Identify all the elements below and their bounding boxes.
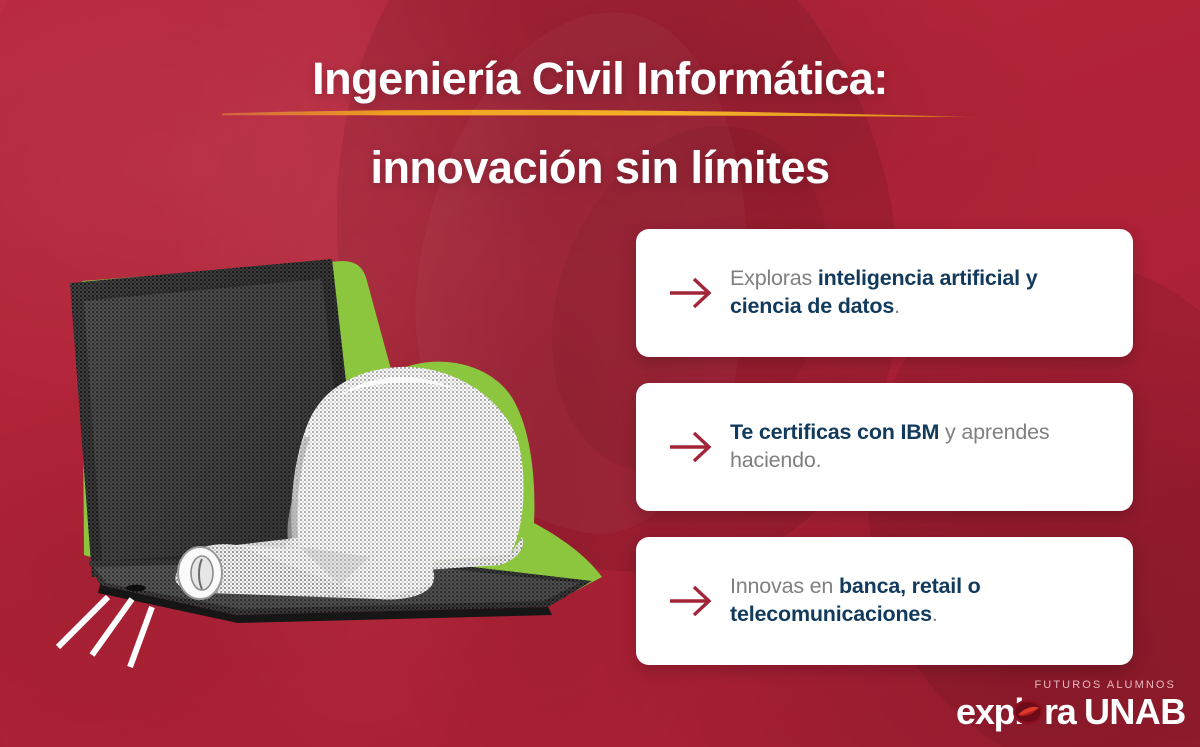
compass-o-icon — [1013, 700, 1043, 725]
arrow-right-icon — [662, 426, 720, 468]
logo-kicker: FUTUROS ALUMNOS — [956, 679, 1176, 691]
benefit-card-2[interactable]: Te certificas con IBM y aprendes haciend… — [636, 383, 1133, 511]
benefit-cards-list: Exploras inteligencia artificial y cienc… — [636, 229, 1133, 665]
benefit-card-1-text: Exploras inteligencia artificial y cienc… — [720, 265, 1111, 321]
logo-wordmark: expl ra UNAB — [956, 692, 1178, 732]
arrow-right-icon — [662, 272, 720, 314]
arrow-right-icon — [662, 580, 720, 622]
title-block: Ingeniería Civil Informática: innovación… — [0, 56, 1200, 192]
page-title-line-2: innovación sin límites — [0, 145, 1200, 192]
card3-seg-0: Innovas en — [730, 574, 839, 598]
benefit-card-3-text: Innovas en banca, retail o telecomunicac… — [720, 573, 1111, 629]
card1-seg-0: Exploras — [730, 266, 818, 290]
swoosh-accent-icon — [220, 109, 980, 123]
page-title-line-1: Ingeniería Civil Informática: — [0, 56, 1200, 103]
benefit-card-3[interactable]: Innovas en banca, retail o telecomunicac… — [636, 537, 1133, 665]
poster-canvas: Ingeniería Civil Informática: innovación… — [0, 0, 1200, 747]
laptop-hardhat-blueprints-illustration — [40, 255, 640, 675]
svg-text:UNAB: UNAB — [1084, 691, 1186, 732]
card1-seg-2: . — [894, 294, 900, 318]
speed-lines-icon — [58, 597, 152, 667]
svg-text:ra: ra — [1044, 691, 1078, 732]
card2-seg-0: Te certificas con IBM — [730, 420, 939, 444]
brand-logo[interactable]: FUTUROS ALUMNOS expl ra UNAB — [956, 679, 1178, 737]
benefit-card-1[interactable]: Exploras inteligencia artificial y cienc… — [636, 229, 1133, 357]
card3-seg-2: . — [932, 602, 938, 626]
benefit-card-2-text: Te certificas con IBM y aprendes haciend… — [720, 419, 1111, 475]
